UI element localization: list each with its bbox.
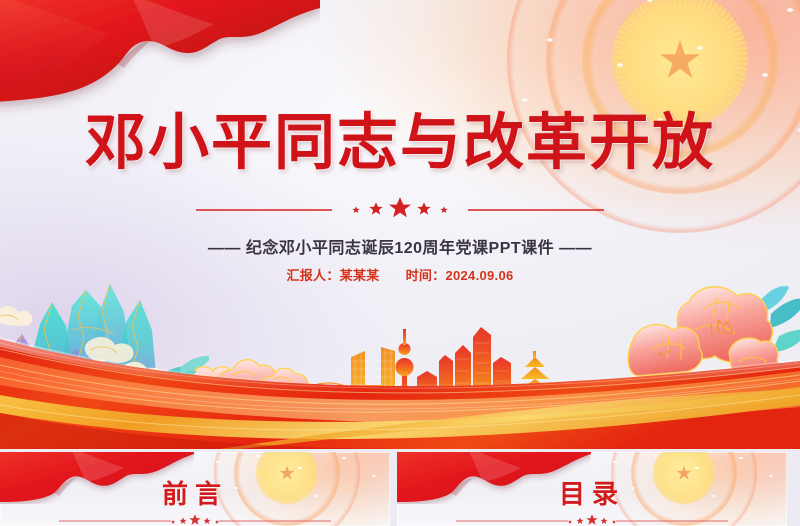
slide-thumbnail-contents[interactable]: 目录 xyxy=(397,452,787,526)
five-stars-divider-icon xyxy=(452,514,732,526)
byline: 汇报人：某某某时间：2024.09.06 xyxy=(0,265,800,284)
thumbnail-title: 前言 xyxy=(0,474,390,511)
presenter-label: 汇报人：某某某 xyxy=(286,268,379,283)
date-label: 时间：2024.09.06 xyxy=(406,268,514,283)
slide-thumbnail-strip: 前言 xyxy=(0,452,800,526)
red-silk-ribbon-wave-icon xyxy=(0,309,800,449)
slide-subtitle: —— 纪念邓小平同志诞辰120周年党课PPT课件 —— xyxy=(0,234,800,258)
red-silk-flag-icon xyxy=(0,0,320,119)
title-block: 邓小平同志与改革开放 xyxy=(0,112,800,173)
thumbnail-title: 目录 xyxy=(397,474,787,511)
five-stars-divider-icon xyxy=(55,514,335,526)
main-slide: 邓小平同志与改革开放 xyxy=(0,0,800,449)
five-stars-divider-icon xyxy=(0,196,800,224)
light-dots-decoration xyxy=(500,0,800,210)
slide-thumbnail-preface[interactable]: 前言 xyxy=(0,452,390,526)
presentation-preview: 邓小平同志与改革开放 xyxy=(0,0,800,526)
page-title: 邓小平同志与改革开放 xyxy=(0,112,800,173)
